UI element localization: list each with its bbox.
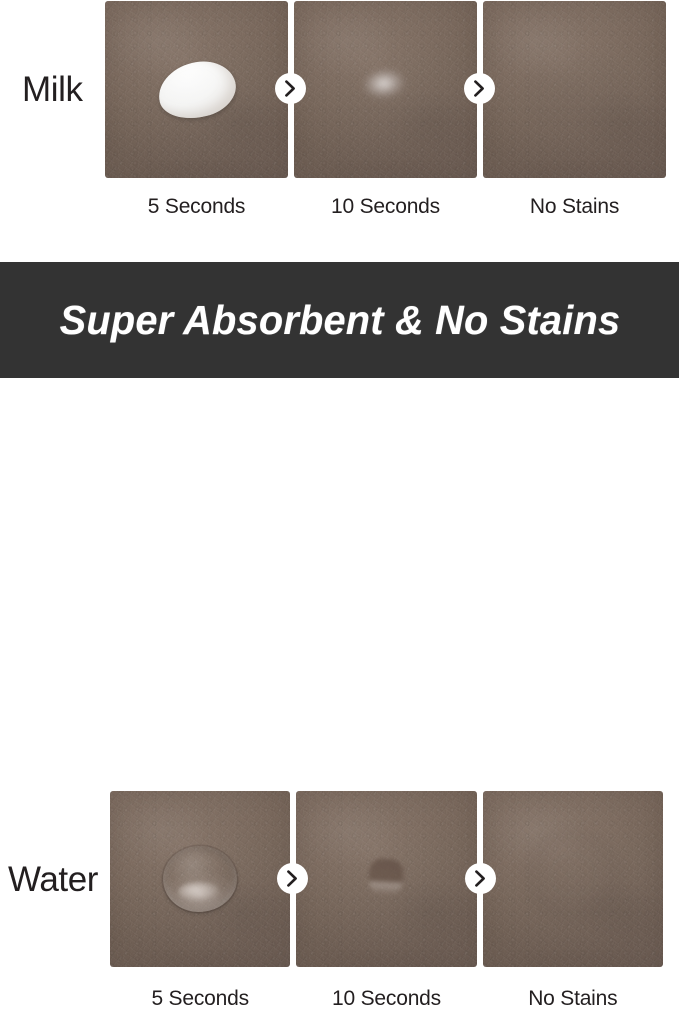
water-droplet-fresh bbox=[163, 846, 237, 912]
milk-residue-spot bbox=[361, 67, 410, 106]
leather-panel-milk-5-seconds bbox=[105, 1, 288, 178]
test-row-milk: Milk 5 Seconds 10 Seconds bbox=[0, 0, 679, 240]
leather-panel-water-10-seconds bbox=[296, 791, 476, 967]
panel-strip-water bbox=[110, 791, 663, 967]
caption-water-2: 10 Seconds bbox=[296, 988, 476, 1009]
leather-panel-water-no-stains bbox=[483, 791, 663, 967]
substance-label-water: Water bbox=[8, 862, 98, 897]
substance-label-milk: Milk bbox=[22, 72, 83, 107]
caption-water-1: 5 Seconds bbox=[110, 988, 290, 1009]
chevron-right-icon bbox=[464, 73, 495, 104]
caption-strip-water: 5 Seconds 10 Seconds No Stains bbox=[110, 988, 663, 1009]
panel-strip-milk bbox=[105, 1, 666, 178]
test-row-water: Water 5 Seconds 10 Seconds bbox=[0, 388, 679, 626]
caption-water-3: No Stains bbox=[483, 988, 663, 1009]
headline-text: Super Absorbent & No Stains bbox=[59, 300, 620, 341]
water-residue-spot bbox=[369, 858, 405, 896]
caption-milk-1: 5 Seconds bbox=[105, 196, 288, 217]
headline-banner: Super Absorbent & No Stains bbox=[0, 262, 679, 378]
chevron-right-icon bbox=[275, 73, 306, 104]
absorbency-infographic: Milk 5 Seconds 10 Seconds bbox=[0, 0, 679, 626]
caption-milk-3: No Stains bbox=[483, 196, 666, 217]
milk-clean-surface bbox=[510, 41, 638, 139]
caption-milk-2: 10 Seconds bbox=[294, 196, 477, 217]
milk-droplet-fresh bbox=[152, 53, 241, 125]
water-clean-surface bbox=[521, 827, 625, 923]
caption-strip-milk: 5 Seconds 10 Seconds No Stains bbox=[105, 196, 666, 217]
chevron-right-icon bbox=[277, 863, 308, 894]
leather-panel-milk-10-seconds bbox=[294, 1, 477, 178]
leather-panel-milk-no-stains bbox=[483, 1, 666, 178]
leather-panel-water-5-seconds bbox=[110, 791, 290, 967]
chevron-right-icon bbox=[465, 863, 496, 894]
